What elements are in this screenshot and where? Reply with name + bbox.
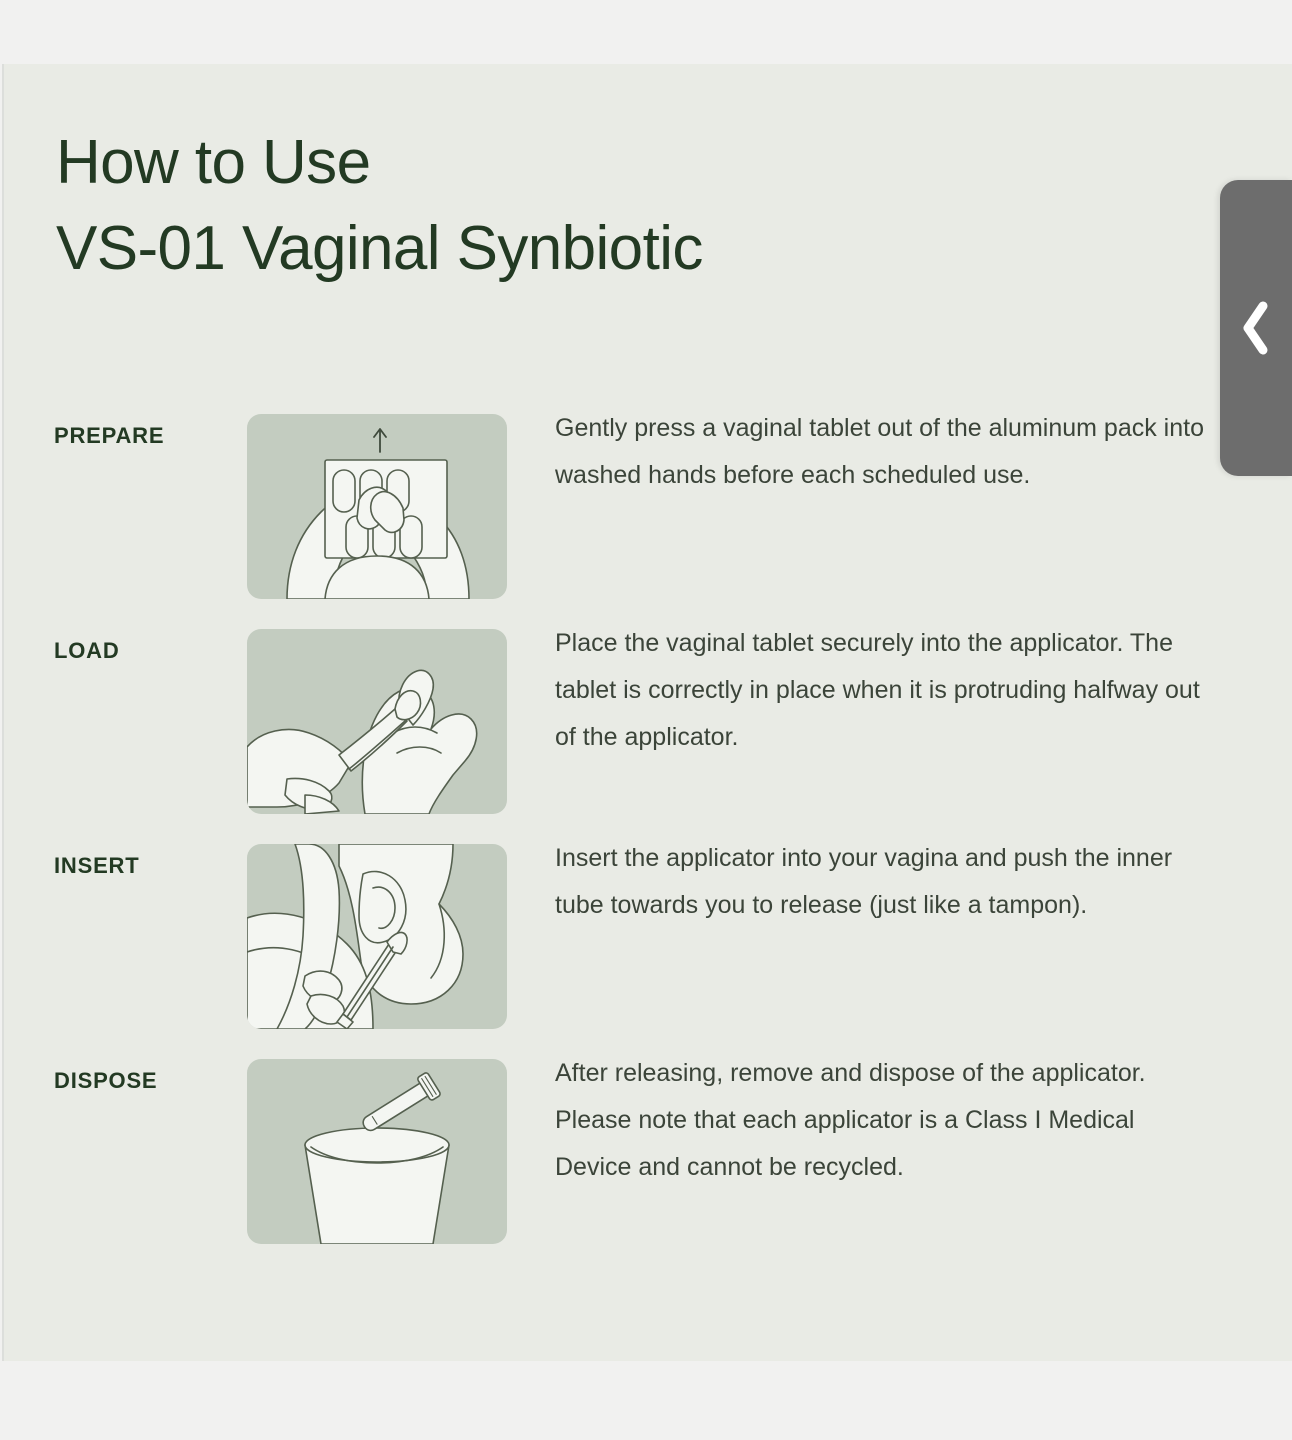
step-text-load: Place the vaginal tablet securely into t… xyxy=(555,620,1215,761)
step-label-load: LOAD xyxy=(54,638,239,664)
page-title-line-2: VS-01 Vaginal Synbiotic xyxy=(56,206,956,292)
step-text-dispose: After releasing, remove and dispose of t… xyxy=(555,1050,1215,1191)
step-row: LOAD xyxy=(4,628,1292,843)
page-title: How to Use VS-01 Vaginal Synbiotic xyxy=(56,120,956,292)
page-root: How to Use VS-01 Vaginal Synbiotic PREPA… xyxy=(0,0,1292,1440)
applicator-insertion-body-illustration xyxy=(247,844,507,1029)
step-row: INSERT xyxy=(4,843,1292,1058)
page-title-line-1: How to Use xyxy=(56,120,956,206)
step-text-prepare: Gently press a vaginal tablet out of the… xyxy=(555,405,1215,499)
step-text-insert: Insert the applicator into your vagina a… xyxy=(555,835,1215,929)
step-label-dispose: DISPOSE xyxy=(54,1068,239,1094)
instruction-steps-list: PREPARE xyxy=(4,413,1292,1273)
how-to-use-card: How to Use VS-01 Vaginal Synbiotic PREPA… xyxy=(2,64,1292,1361)
hands-loading-applicator-illustration xyxy=(247,629,507,814)
step-label-insert: INSERT xyxy=(54,853,239,879)
step-row: DISPOSE xyxy=(4,1058,1292,1273)
hands-pressing-blister-pack-illustration xyxy=(247,414,507,599)
chevron-left-icon xyxy=(1239,298,1273,358)
step-row: PREPARE xyxy=(4,413,1292,628)
step-label-prepare: PREPARE xyxy=(54,423,239,449)
applicator-into-trash-bin-illustration xyxy=(247,1059,507,1244)
previous-slide-tab[interactable] xyxy=(1220,180,1292,476)
